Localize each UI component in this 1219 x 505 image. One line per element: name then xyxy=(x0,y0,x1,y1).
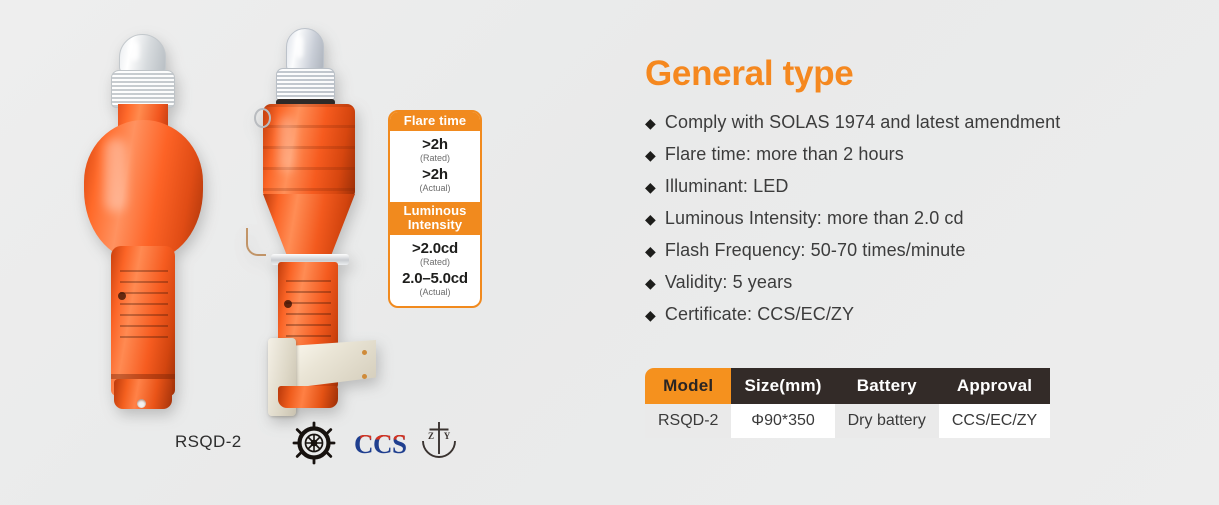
lens-dome xyxy=(286,28,324,72)
spec-value-rated: >2.0cd xyxy=(390,240,480,257)
cell-battery: Dry battery xyxy=(835,404,939,438)
lens-ribbed-cap xyxy=(276,68,335,101)
diamond-bullet-icon: ◆ xyxy=(645,268,656,299)
product-cone xyxy=(263,194,355,258)
page-title: General type xyxy=(645,55,1145,93)
bracket-screw xyxy=(362,350,367,355)
spec-label-actual: (Actual) xyxy=(390,287,480,298)
bracket-screw xyxy=(362,374,367,379)
product-image-rsqd2-plain xyxy=(78,34,210,416)
column-header-size: Size(mm) xyxy=(731,368,834,404)
column-header-battery: Battery xyxy=(835,368,939,404)
product-label-text xyxy=(120,270,168,346)
cell-approval: CCS/EC/ZY xyxy=(939,404,1050,438)
lens-dome xyxy=(119,34,166,74)
feature-item: ◆ Validity: 5 years xyxy=(645,267,1145,299)
product-float-body xyxy=(84,120,203,260)
mounting-bracket xyxy=(292,340,376,388)
product-hanging-hole xyxy=(137,399,146,408)
diamond-bullet-icon: ◆ xyxy=(645,236,656,267)
spec-callout-badge: Flare time >2h (Rated) >2h (Actual) Lumi… xyxy=(388,110,482,308)
table-body: RSQD-2 Φ90*350 Dry battery CCS/EC/ZY xyxy=(645,404,1050,438)
feature-text: Certificate: CCS/EC/ZY xyxy=(665,299,854,330)
svg-text:Z: Z xyxy=(428,431,434,441)
anchor-zy-icon: Z Y xyxy=(416,418,462,469)
ship-wheel-icon xyxy=(292,421,336,470)
spec-section-title-luminous-intensity: Luminous Intensity xyxy=(390,202,480,235)
feature-item: ◆ Flare time: more than 2 hours xyxy=(645,139,1145,171)
certification-logos: CCS CCS Z Y xyxy=(290,415,485,467)
product-base xyxy=(278,386,338,408)
feature-item: ◆ Flash Frequency: 50-70 times/minute xyxy=(645,235,1145,267)
spec-value-actual: 2.0–5.0cd xyxy=(390,270,480,287)
diamond-bullet-icon: ◆ xyxy=(645,204,656,235)
ccs-logo-icon: CCS CCS xyxy=(354,429,407,460)
column-header-approval: Approval xyxy=(939,368,1050,404)
diamond-bullet-icon: ◆ xyxy=(645,172,656,203)
table-row: RSQD-2 Φ90*350 Dry battery CCS/EC/ZY xyxy=(645,404,1050,438)
spec-section-title-flare-time: Flare time xyxy=(390,112,480,131)
product-lanyard xyxy=(246,228,266,256)
feature-text: Flare time: more than 2 hours xyxy=(665,139,904,170)
feature-text: Luminous Intensity: more than 2.0 cd xyxy=(665,203,964,234)
feature-text: Flash Frequency: 50-70 times/minute xyxy=(665,235,966,266)
column-header-model: Model xyxy=(645,368,731,404)
feature-item: ◆ Comply with SOLAS 1974 and latest amen… xyxy=(645,107,1145,139)
feature-text: Validity: 5 years xyxy=(665,267,792,298)
spec-value-rated: >2h xyxy=(390,136,480,153)
spec-section-body-flare-time: >2h (Rated) >2h (Actual) xyxy=(390,131,480,202)
spec-label-rated: (Rated) xyxy=(390,153,480,164)
diamond-bullet-icon: ◆ xyxy=(645,108,656,139)
svg-text:Y: Y xyxy=(444,431,451,441)
feature-item: ◆ Luminous Intensity: more than 2.0 cd xyxy=(645,203,1145,235)
lens-ribbed-section xyxy=(111,70,175,108)
specification-table: Model Size(mm) Battery Approval RSQD-2 Φ… xyxy=(645,368,1050,438)
spec-label-rated: (Rated) xyxy=(390,257,480,268)
product-ribbed-body xyxy=(263,104,355,196)
cell-size: Φ90*350 xyxy=(731,404,834,438)
feature-item: ◆ Illuminant: LED xyxy=(645,171,1145,203)
product-clip xyxy=(254,108,271,128)
model-caption: RSQD-2 xyxy=(175,432,242,452)
product-image-rsqd2-bracket xyxy=(240,28,380,416)
product-label-mark xyxy=(118,292,126,300)
diamond-bullet-icon: ◆ xyxy=(645,300,656,331)
spec-label-actual: (Actual) xyxy=(390,183,480,194)
cell-model: RSQD-2 xyxy=(645,404,731,438)
feature-text: Illuminant: LED xyxy=(665,171,789,202)
product-label-mark xyxy=(284,300,292,308)
feature-text: Comply with SOLAS 1974 and latest amendm… xyxy=(665,107,1061,138)
diamond-bullet-icon: ◆ xyxy=(645,140,656,171)
table-header: Model Size(mm) Battery Approval xyxy=(645,368,1050,404)
ccs-logo-label: CCS xyxy=(354,429,407,459)
feature-item: ◆ Certificate: CCS/EC/ZY xyxy=(645,299,1145,331)
table-header-row: Model Size(mm) Battery Approval xyxy=(645,368,1050,404)
content-column: General type ◆ Comply with SOLAS 1974 an… xyxy=(645,55,1145,331)
spec-section-body-luminous-intensity: >2.0cd (Rated) 2.0–5.0cd (Actual) xyxy=(390,235,480,306)
spec-value-actual: >2h xyxy=(390,166,480,183)
product-spec-sheet: Flare time >2h (Rated) >2h (Actual) Lumi… xyxy=(0,0,1219,505)
